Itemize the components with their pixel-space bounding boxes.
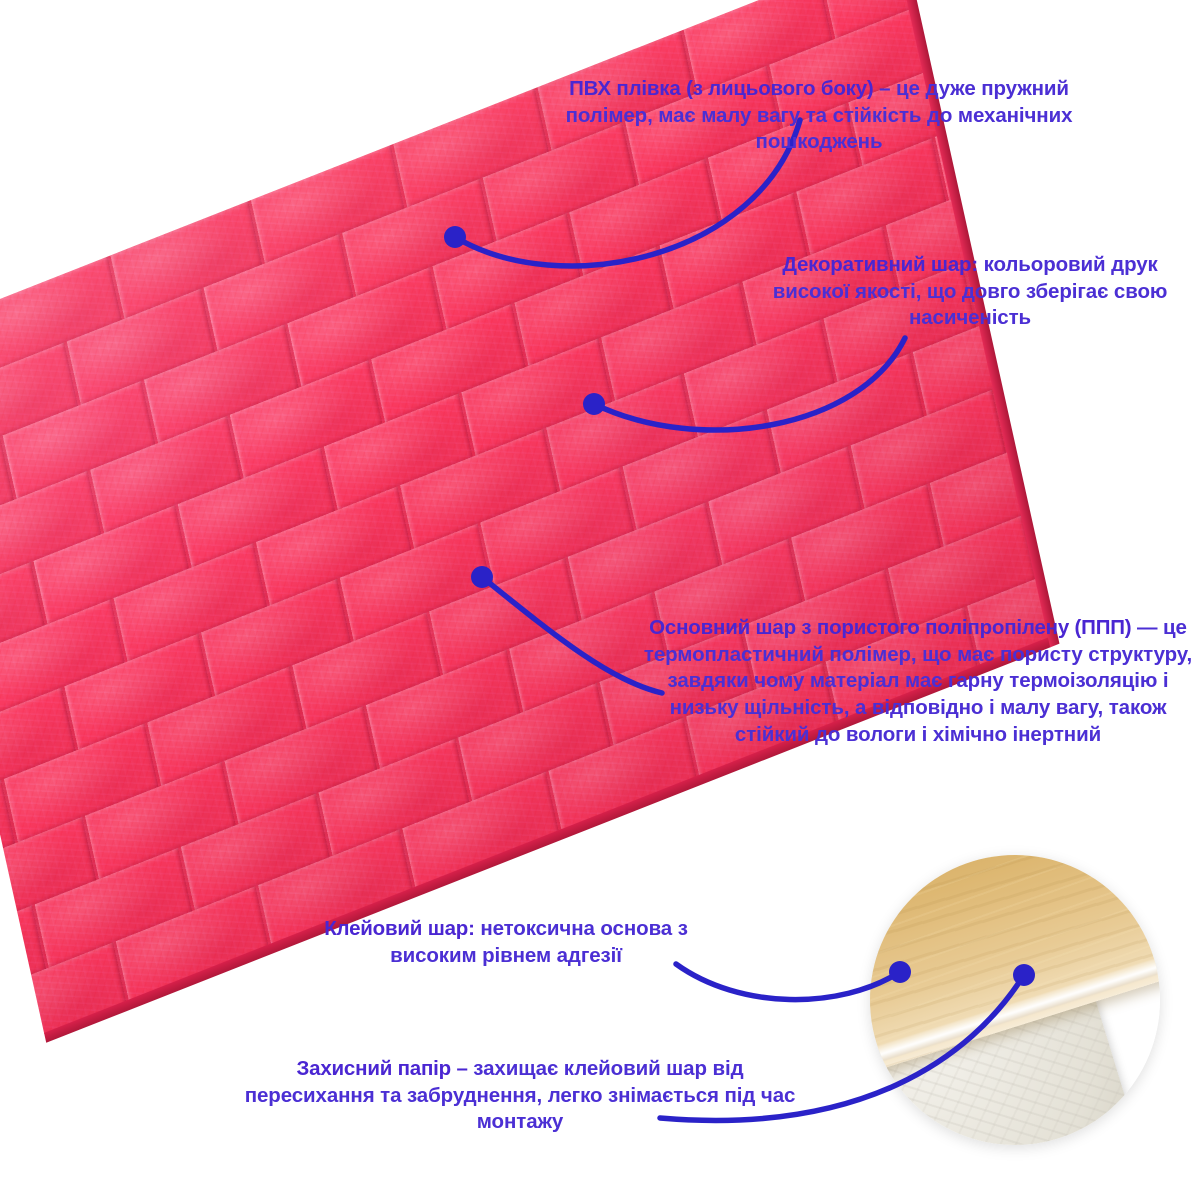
callout-title-pvc: ПВХ плівка (з лицьового боку) xyxy=(569,77,873,100)
connector-line-glue xyxy=(676,964,900,1000)
callout-connectors xyxy=(0,0,1200,1200)
callout-dot-deco xyxy=(583,393,605,415)
callout-text-ppp: Основний шар з пористого поліпропілену (… xyxy=(640,615,1196,748)
callout-text-deco: Декоративний шар: кольоровий друк високо… xyxy=(760,252,1180,332)
callout-dot-paper xyxy=(1013,964,1035,986)
callout-dot-glue xyxy=(889,961,911,983)
callout-title-glue: Клейовий шар: xyxy=(324,917,475,940)
callout-text-glue: Клейовий шар: нетоксична основа з високи… xyxy=(286,916,726,969)
callout-title-paper: Захисний папір – xyxy=(296,1057,467,1080)
callout-dot-pvc xyxy=(444,226,466,248)
infographic-canvas: ПВХ плівка (з лицьового боку) – це дуже … xyxy=(0,0,1200,1200)
callout-title-deco: Декоративний шар: xyxy=(782,253,978,276)
callout-text-paper: Захисний папір – захищає клейовий шар ві… xyxy=(240,1056,800,1136)
callout-title-ppp: Основний шар з пористого поліпропілену (… xyxy=(649,616,1131,639)
callout-dot-ppp xyxy=(471,566,493,588)
callout-text-pvc: ПВХ плівка (з лицьового боку) – це дуже … xyxy=(552,76,1086,156)
connector-line-ppp xyxy=(482,577,662,693)
connector-line-deco xyxy=(594,338,905,430)
